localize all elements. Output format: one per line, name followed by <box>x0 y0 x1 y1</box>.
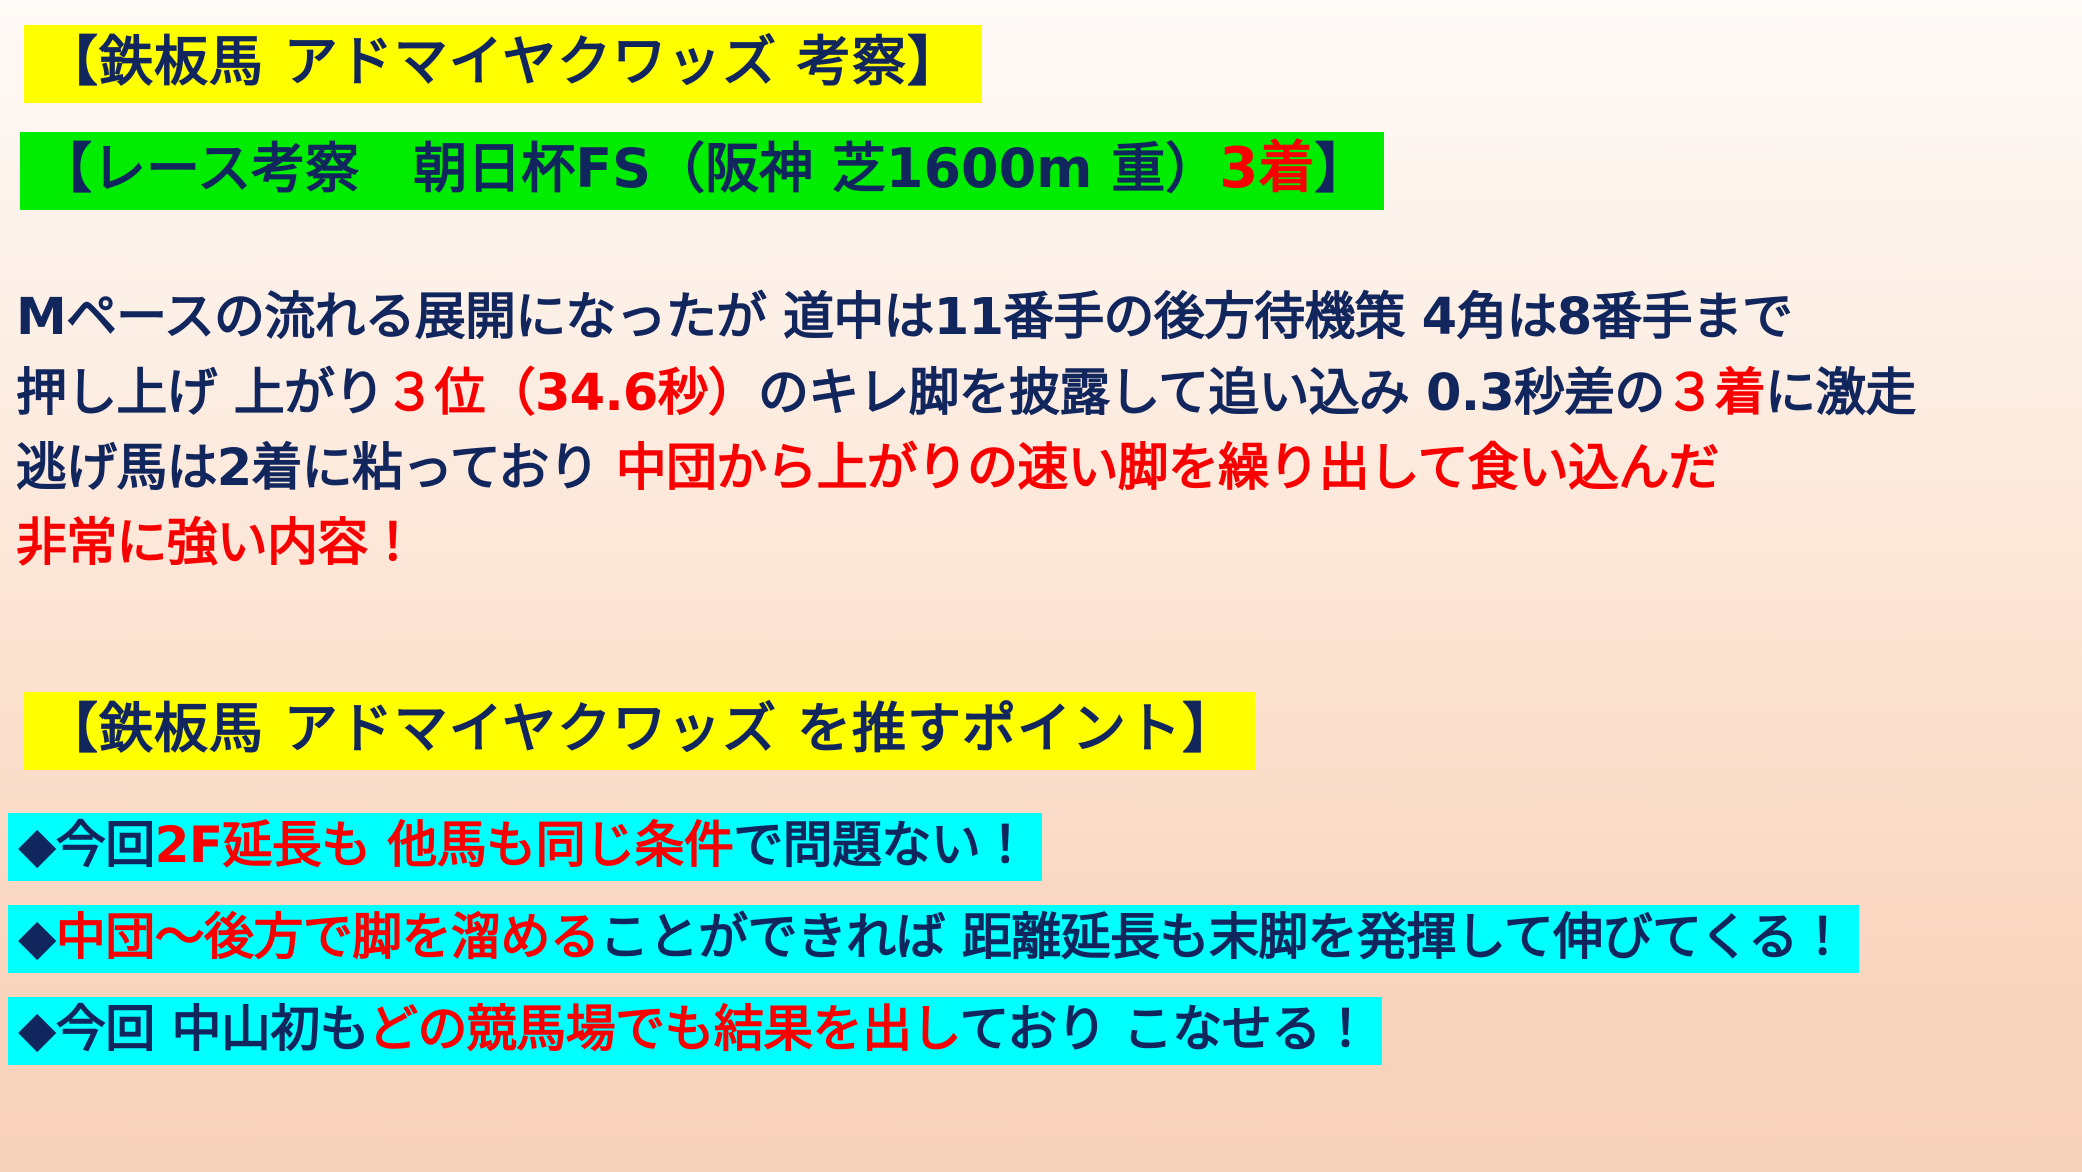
race-body-line-3-part-b: 中団から上がりの速い脚を繰り出して食い込んだ <box>616 439 1719 498</box>
selling-point-1-part-a: 今回 <box>56 816 155 874</box>
selling-point-1-part-b: 2F延長も 他馬も同じ条件 <box>155 816 734 874</box>
heading-race-review-band: 【レース考察 朝日杯FS（阪神 芝1600m 重）3着】 <box>20 132 1384 210</box>
heading-horse-analysis-text: 【鉄板馬 アドマイヤクワッズ 考察】 <box>24 25 982 103</box>
race-body-line-2-part-c: のキレ脚を披露して追い込み 0.3秒差の <box>758 364 1665 423</box>
race-body-line-1-text: Mペースの流れる展開になったが 道中は11番手の後方待機策 4角は8番手まで <box>16 288 1792 347</box>
race-body-line-2-part-a: 押し上げ 上がり <box>16 364 384 423</box>
bullet-diamond-icon: ◆ <box>18 1000 56 1058</box>
selling-point-1-part-c: で問題ない！ <box>733 816 1029 874</box>
race-body-line-2-finish: ３着 <box>1665 364 1765 423</box>
race-finish-position: 3着 <box>1219 136 1314 201</box>
bullet-diamond-icon: ◆ <box>18 908 56 966</box>
race-review-prefix: 【レース考察 朝日杯FS（阪神 芝1600m 重） <box>38 137 1219 200</box>
selling-point-3: ◆今回 中山初もどの競馬場でも結果を出しており こなせる！ <box>8 997 1382 1065</box>
selling-point-1: ◆今回2F延長も 他馬も同じ条件で問題ない！ <box>8 813 1042 881</box>
selling-point-3-band: ◆今回 中山初もどの競馬場でも結果を出しており こなせる！ <box>8 997 1382 1065</box>
heading-horse-analysis: 【鉄板馬 アドマイヤクワッズ 考察】 <box>24 25 982 103</box>
race-body-line-4-text: 非常に強い内容！ <box>16 514 418 573</box>
race-body-line-3-part-a: 逃げ馬は2着に粘っており <box>16 439 616 498</box>
race-body-line-2-part-e: に激走 <box>1765 364 1916 423</box>
selling-point-3-part-c: ており こなせる！ <box>959 1000 1370 1058</box>
bullet-diamond-icon: ◆ <box>18 816 56 874</box>
heading-selling-points-text: 【鉄板馬 アドマイヤクワッズ を推すポイント】 <box>24 692 1255 770</box>
race-body-line-3: 逃げ馬は2着に粘っており 中団から上がりの速い脚を繰り出して食い込んだ <box>16 443 1719 494</box>
race-body-line-2-last-3f: ３位（34.6秒） <box>384 364 758 423</box>
race-review-suffix: 】 <box>1314 137 1368 200</box>
selling-point-1-band: ◆今回2F延長も 他馬も同じ条件で問題ない！ <box>8 813 1042 881</box>
heading-selling-points: 【鉄板馬 アドマイヤクワッズ を推すポイント】 <box>24 692 1255 770</box>
selling-point-3-part-b: どの競馬場でも結果を出し <box>368 1000 959 1058</box>
selling-point-2-part-b: 中団〜後方で脚を溜める <box>56 908 599 966</box>
race-body-line-4: 非常に強い内容！ <box>16 518 418 569</box>
race-body-line-2: 押し上げ 上がり３位（34.6秒）のキレ脚を披露して追い込み 0.3秒差の３着に… <box>16 368 1916 419</box>
slide-page: 【鉄板馬 アドマイヤクワッズ 考察】 【レース考察 朝日杯FS（阪神 芝1600… <box>0 0 2082 1172</box>
heading-race-review: 【レース考察 朝日杯FS（阪神 芝1600m 重）3着】 <box>20 132 1384 210</box>
selling-point-2: ◆中団〜後方で脚を溜めることができれば 距離延長も末脚を発揮して伸びてくる！ <box>8 905 1859 973</box>
race-body-line-1: Mペースの流れる展開になったが 道中は11番手の後方待機策 4角は8番手まで <box>16 292 1792 343</box>
selling-point-2-part-c: ことができれば 距離延長も末脚を発揮して伸びてくる！ <box>599 908 1847 966</box>
selling-point-3-part-a: 今回 中山初も <box>56 1000 368 1058</box>
selling-point-2-band: ◆中団〜後方で脚を溜めることができれば 距離延長も末脚を発揮して伸びてくる！ <box>8 905 1859 973</box>
